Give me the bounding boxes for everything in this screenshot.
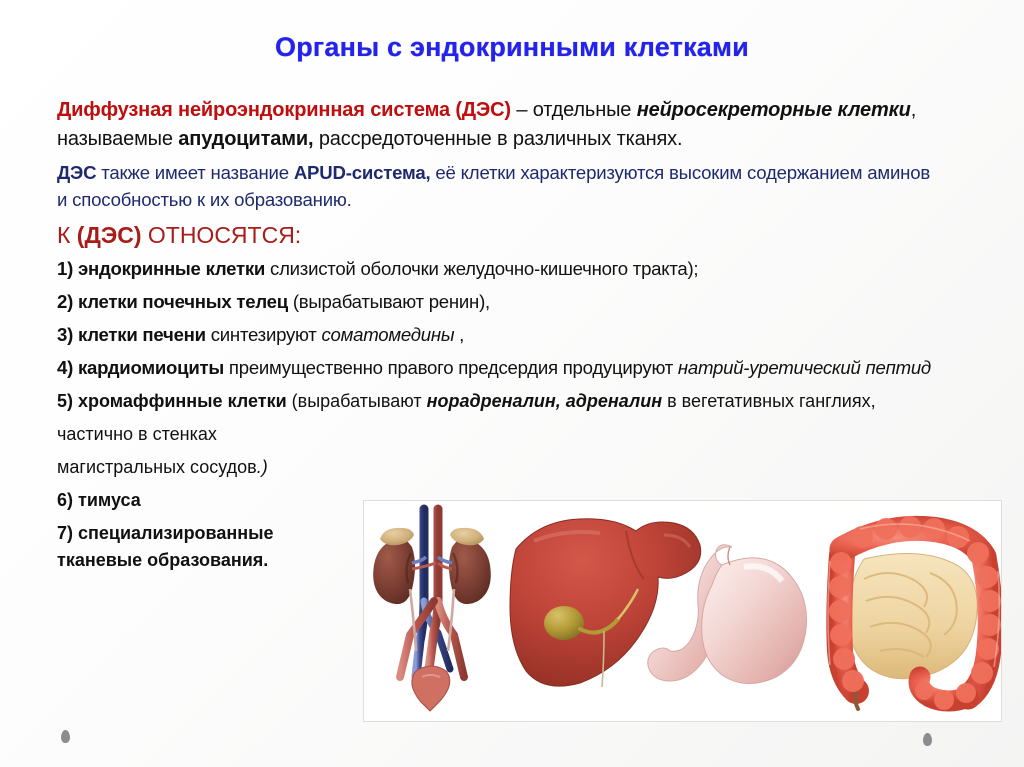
list-item-text: синтезируют bbox=[206, 324, 322, 345]
list-item-number: 4) bbox=[57, 357, 73, 378]
list-item: 3) клетки печени синтезируют соматомедин… bbox=[57, 322, 937, 349]
apud-connector: также имеет название bbox=[96, 162, 294, 183]
list-item-number: 6) bbox=[57, 490, 73, 510]
anatomy-illustration-panel bbox=[363, 500, 1002, 722]
paragraph-apud-system: ДЭС также имеет название APUD-система, е… bbox=[57, 159, 937, 214]
list-item: 6) тимуса bbox=[57, 487, 357, 514]
list-item-continuation: частично в стенках bbox=[57, 421, 357, 448]
definition-connector: – отдельные bbox=[511, 99, 637, 121]
continuation-text: частично в стенках bbox=[57, 424, 217, 444]
list-item-term: кардиомиоциты bbox=[73, 357, 224, 378]
list-item: 1) эндокринные клетки слизистой оболочки… bbox=[57, 256, 937, 283]
list-item-italic-term: натрий-уретический пептид bbox=[678, 357, 931, 378]
slide-root: Органы с эндокринными клетками Диффузная… bbox=[0, 0, 1024, 767]
list-item-continuation: магистральных сосудов.) bbox=[57, 454, 357, 481]
anatomy-svg bbox=[364, 501, 1001, 721]
paragraph-definition: Диффузная нейроэндокринная система (ДЭС)… bbox=[57, 96, 937, 155]
list-item: 2) клетки почечных телец (вырабатывают р… bbox=[57, 289, 937, 316]
list-item-text: преимущественно правого предсердия проду… bbox=[224, 357, 678, 378]
list-item-term: клетки печени bbox=[73, 324, 206, 345]
stomach-body bbox=[702, 558, 807, 684]
definition-tail: рассредоточенные в различных тканях. bbox=[313, 128, 682, 150]
heading-prefix: К bbox=[57, 222, 77, 248]
list-item-text: (вырабатывают ренин), bbox=[288, 291, 490, 312]
list-item-italic-term: соматомедины bbox=[322, 324, 455, 345]
heading-term: (ДЭС) bbox=[77, 222, 142, 248]
term-des-abbrev: ДЭС bbox=[57, 162, 96, 183]
list-item-text: слизистой оболочки желудочно-кишечного т… bbox=[265, 258, 698, 279]
list-item: 4) кардиомиоциты преимущественно правого… bbox=[57, 355, 937, 382]
list-item-text: (вырабатывают bbox=[287, 391, 427, 411]
list-item-number: 7) bbox=[57, 523, 73, 543]
page-title: Органы с эндокринными клетками bbox=[0, 32, 1024, 63]
term-neurosecretory-cells: нейросекреторные клетки bbox=[637, 99, 911, 121]
section-heading-includes: К (ДЭС) ОТНОСЯТСЯ: bbox=[57, 219, 937, 252]
list-item-text-tail: , bbox=[454, 324, 464, 345]
list-item-term: хромаффинные клетки bbox=[73, 391, 287, 411]
list-item-term: специализированные тканевые образования. bbox=[57, 523, 274, 570]
gallbladder bbox=[544, 606, 584, 640]
list-item-number: 3) bbox=[57, 324, 73, 345]
term-apudocytes: апудоцитами, bbox=[178, 128, 313, 150]
list-item-term: эндокринные клетки bbox=[73, 258, 265, 279]
list-item: 5) хромаффинные клетки (вырабатывают нор… bbox=[57, 388, 937, 415]
list-item-number: 1) bbox=[57, 258, 73, 279]
list-item-text-tail: в вегетативных ганглиях, bbox=[662, 391, 876, 411]
slide-marker-right-icon bbox=[923, 733, 932, 746]
slide-marker-left-icon bbox=[61, 730, 70, 743]
list-item-term: клетки почечных телец bbox=[73, 291, 288, 312]
list-item: 7) специализированные тканевые образован… bbox=[57, 520, 357, 574]
continuation-closing: .) bbox=[257, 457, 268, 477]
list-item-number: 5) bbox=[57, 391, 73, 411]
list-item-number: 2) bbox=[57, 291, 73, 312]
list-item-hormones: норадреналин, адреналин bbox=[427, 391, 663, 411]
term-dnes: Диффузная нейроэндокринная система (ДЭС) bbox=[57, 99, 511, 121]
term-apud-system: APUD-система, bbox=[294, 162, 431, 183]
continuation-text: магистральных сосудов bbox=[57, 457, 257, 477]
list-item-term: тимуса bbox=[73, 490, 141, 510]
heading-suffix: ОТНОСЯТСЯ: bbox=[141, 222, 301, 248]
